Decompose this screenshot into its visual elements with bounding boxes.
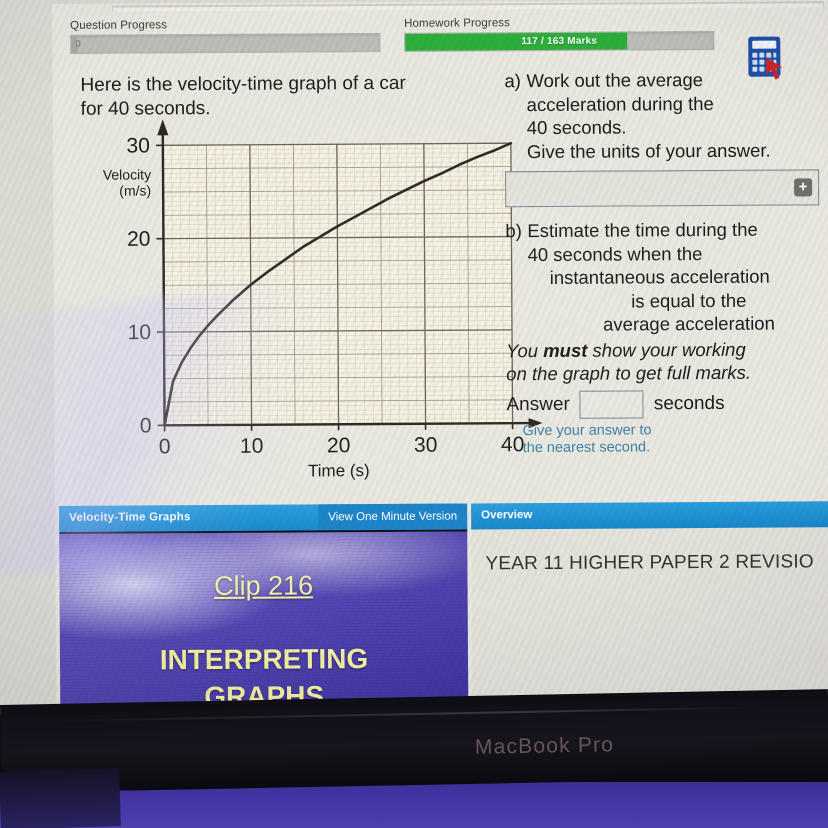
part-b-answer-unit: seconds bbox=[654, 392, 725, 416]
part-b-line-4: is equal to the bbox=[528, 288, 828, 313]
quiz-page: Question Progress 0 Homework Progress 11… bbox=[52, 0, 828, 710]
part-a-line-1: Work out the average bbox=[526, 67, 828, 92]
question-stem-line-1: Here is the velocity-time graph of a car bbox=[80, 72, 460, 98]
part-b-hint-line-2: the nearest second. bbox=[523, 438, 828, 457]
homework-progress-label: Homework Progress bbox=[404, 16, 714, 30]
part-a-answer-input[interactable]: + bbox=[505, 169, 819, 207]
question-progress: Question Progress 0 bbox=[70, 18, 380, 54]
video-panel: Velocity-Time Graphs View One Minute Ver… bbox=[59, 503, 468, 713]
svg-text:30: 30 bbox=[126, 134, 149, 157]
desk-shadow-left bbox=[0, 768, 121, 828]
part-b-instruction-line-1: You must show your working bbox=[506, 337, 828, 362]
part-a-tag: a) bbox=[504, 69, 527, 163]
bottom-panels: Velocity-Time Graphs View One Minute Ver… bbox=[55, 497, 828, 714]
question-parts-column: a) Work out the average acceleration dur… bbox=[504, 67, 828, 457]
homework-progress-track: 117 / 163 Marks bbox=[404, 31, 714, 52]
part-b-tag: b) bbox=[505, 219, 528, 337]
laptop-photo: Question Progress 0 Homework Progress 11… bbox=[0, 0, 828, 828]
svg-text:(m/s): (m/s) bbox=[119, 182, 151, 198]
instruction-post: show your working bbox=[587, 338, 745, 360]
page-top-border bbox=[112, 1, 824, 11]
svg-text:30: 30 bbox=[414, 434, 437, 457]
instruction-pre: You bbox=[506, 340, 543, 361]
svg-text:20: 20 bbox=[127, 228, 150, 251]
overview-heading: YEAR 11 HIGHER PAPER 2 REVISIO bbox=[471, 527, 828, 575]
part-a-add-button[interactable]: + bbox=[794, 178, 812, 196]
part-b-hint-line-1: Give your answer to bbox=[523, 421, 828, 440]
svg-text:Velocity: Velocity bbox=[103, 166, 151, 182]
part-b-line-5: average acceleration bbox=[528, 311, 828, 336]
laptop-bezel: MacBook Pro bbox=[0, 689, 828, 793]
part-a-line-3: 40 seconds. bbox=[527, 114, 828, 139]
overview-panel-header: Overview bbox=[471, 501, 828, 529]
overview-panel: Overview YEAR 11 HIGHER PAPER 2 REVISIO bbox=[471, 501, 828, 711]
part-b-line-2: 40 seconds when the bbox=[527, 241, 828, 266]
svg-text:0: 0 bbox=[159, 435, 171, 458]
laptop-screen: Question Progress 0 Homework Progress 11… bbox=[0, 0, 828, 714]
video-panel-header: Velocity-Time Graphs View One Minute Ver… bbox=[59, 503, 467, 531]
part-b-line-3: instantaneous acceleration bbox=[528, 264, 828, 289]
video-tab-label: Velocity-Time Graphs bbox=[69, 511, 190, 524]
part-b: b) Estimate the time during the 40 secon… bbox=[505, 217, 828, 337]
part-b-answer-row: Answer seconds bbox=[506, 389, 828, 419]
part-b-line-1: Estimate the time during the bbox=[527, 217, 828, 242]
part-b-answer-input[interactable] bbox=[580, 390, 644, 418]
velocity-time-chart: 0102030400102030Time (s)Velocity(m/s) bbox=[71, 113, 543, 486]
part-a-line-2: acceleration during the bbox=[527, 91, 828, 116]
bezel-glint bbox=[0, 705, 828, 723]
question-progress-track: 0 bbox=[70, 33, 380, 54]
macbook-pro-label: MacBook Pro bbox=[475, 733, 615, 760]
part-b-instruction-line-2: on the graph to get full marks. bbox=[506, 360, 828, 385]
homework-progress-value: 117 / 163 Marks bbox=[405, 32, 713, 51]
homework-progress: Homework Progress 117 / 163 Marks bbox=[404, 16, 714, 52]
svg-text:10: 10 bbox=[128, 321, 151, 344]
instruction-bold: must bbox=[543, 339, 587, 360]
svg-text:20: 20 bbox=[327, 434, 350, 457]
question-progress-value: 0 bbox=[71, 34, 379, 53]
question-progress-label: Question Progress bbox=[70, 18, 380, 32]
thumbnail-title-line-1: INTERPRETING bbox=[60, 639, 468, 678]
view-one-minute-version-button[interactable]: View One Minute Version bbox=[318, 503, 467, 530]
clip-number-label: Clip 216 bbox=[59, 569, 467, 602]
svg-text:Time (s): Time (s) bbox=[308, 461, 370, 480]
part-a: a) Work out the average acceleration dur… bbox=[504, 67, 828, 163]
part-b-hint: Give your answer to the nearest second. bbox=[507, 421, 828, 457]
overview-tab-label: Overview bbox=[481, 509, 532, 521]
progress-row: Question Progress 0 Homework Progress 11… bbox=[52, 15, 828, 68]
svg-text:0: 0 bbox=[140, 414, 152, 437]
part-b-answer-label: Answer bbox=[506, 393, 570, 417]
video-thumbnail[interactable]: Clip 216 INTERPRETING GRAPHS bbox=[59, 529, 468, 714]
svg-text:10: 10 bbox=[240, 435, 263, 458]
velocity-time-graph: 0102030400102030Time (s)Velocity(m/s) bbox=[71, 113, 543, 486]
part-a-line-4: Give the units of your answer. bbox=[527, 138, 828, 163]
